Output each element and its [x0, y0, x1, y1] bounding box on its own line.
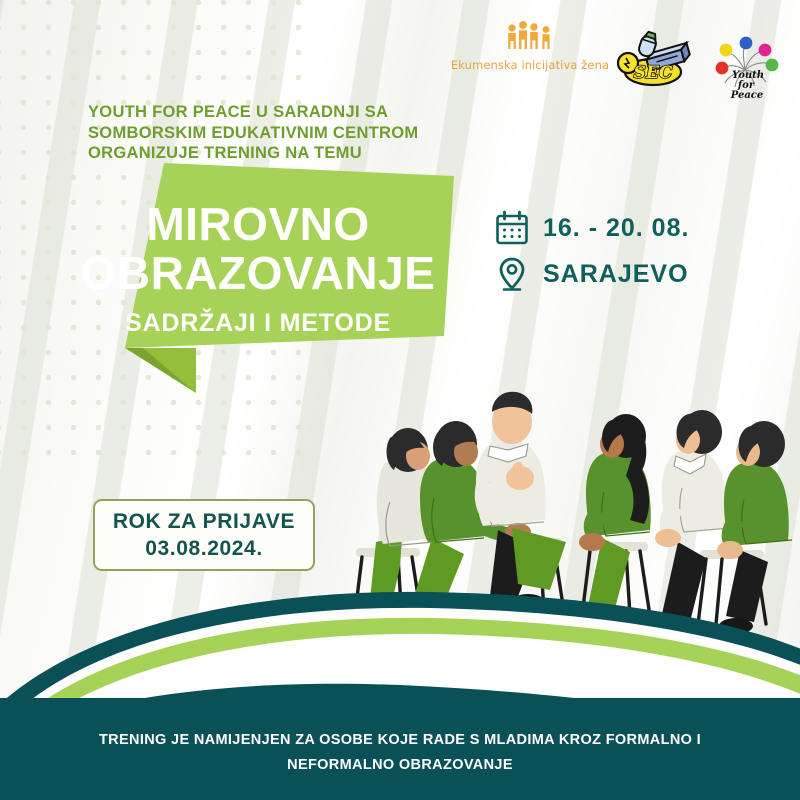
svg-text:SEC: SEC	[634, 63, 673, 83]
logo-row: Ekumenska inicijativa žena SEC	[0, 14, 800, 98]
deadline-label: ROK ZA PRIJAVE	[113, 510, 295, 534]
logo-youth-for-peace: Youth for Peace	[702, 30, 788, 104]
ekumenska-figures-icon	[505, 20, 557, 54]
event-date: 16. - 20. 08.	[543, 214, 689, 243]
logo-sec: SEC	[613, 30, 691, 92]
deadline-date: 03.08.2024.	[145, 537, 263, 561]
event-meta: 16. - 20. 08. SARAJEVO	[495, 205, 689, 297]
calendar-icon	[495, 210, 529, 246]
meta-date-row: 16. - 20. 08.	[495, 205, 689, 251]
event-location: SARAJEVO	[543, 260, 689, 289]
title-line-1: MIROVNO	[146, 200, 369, 248]
map-pin-icon	[495, 256, 529, 292]
title-block: MIROVNO OBRAZOVANJE SADRŽAJI I METODE	[48, 158, 468, 358]
logo-ekumenska-caption: Ekumenska inicijativa žena	[450, 58, 610, 72]
meta-location-row: SARAJEVO	[495, 251, 689, 297]
poster-canvas: Ekumenska inicijativa žena SEC	[0, 0, 800, 800]
title-line-2: OBRAZOVANJE	[81, 248, 436, 298]
subtitle: SADRŽAJI I METODE	[125, 308, 391, 338]
footer-text: TRENING JE NAMIJENJEN ZA OSOBE KOJE RADE…	[60, 728, 740, 778]
kicker-text: YOUTH FOR PEACE U SARADNJI SA SOMBORSKIM…	[88, 102, 508, 164]
logo-yfp-line3: Peace	[730, 90, 764, 101]
